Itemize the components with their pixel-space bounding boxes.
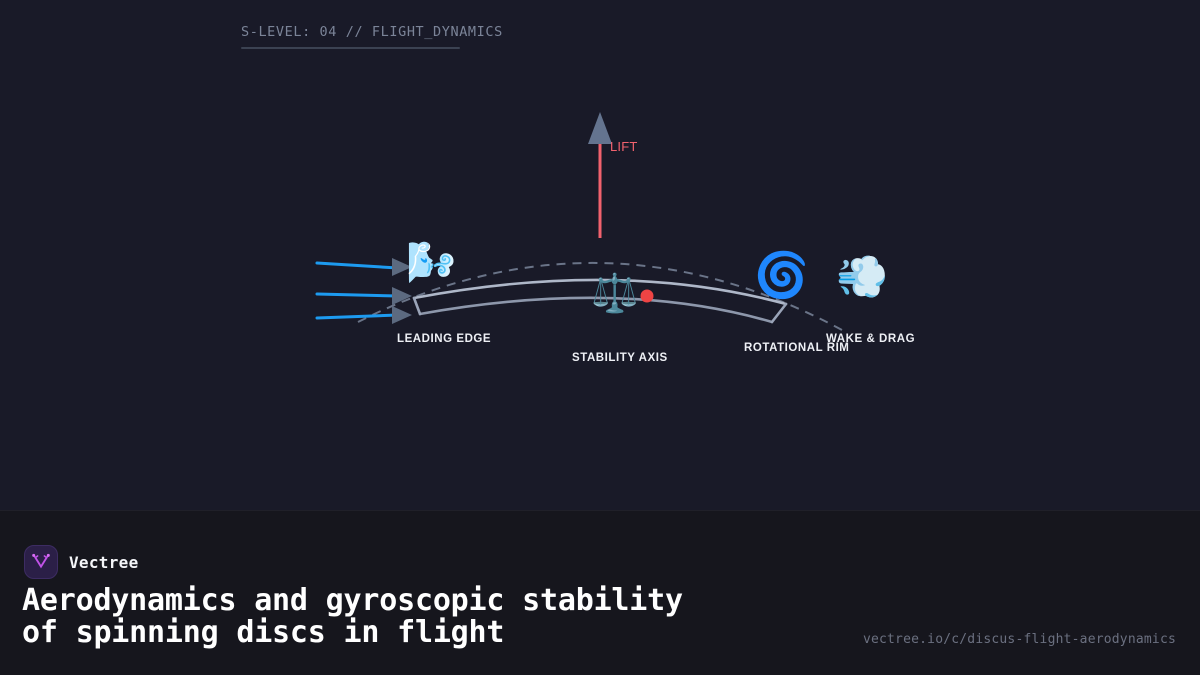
discus-right-tip bbox=[772, 304, 786, 322]
header-eyebrow: S-LEVEL: 04 // FLIGHT_DYNAMICS bbox=[241, 24, 461, 49]
center-of-mass-dot bbox=[641, 290, 654, 303]
section-level-text: S-LEVEL: 04 // FLIGHT_DYNAMICS bbox=[241, 24, 461, 40]
airflow-lines-group bbox=[317, 263, 398, 318]
source-url: vectree.io/c/discus-flight-aerodynamics bbox=[863, 632, 1176, 647]
brand-row: Vectree bbox=[24, 545, 139, 579]
balance-scale-icon: ⚖️ bbox=[591, 275, 639, 313]
airflow-line-1 bbox=[317, 263, 398, 268]
header-divider bbox=[241, 47, 460, 49]
cyclone-icon: 🌀 bbox=[754, 254, 802, 298]
airflow-line-3 bbox=[317, 315, 398, 318]
footer-bar: Vectree Aerodynamics and gyroscopic stab… bbox=[0, 510, 1200, 675]
brand-logo bbox=[24, 545, 58, 579]
brand-name: Vectree bbox=[69, 553, 139, 572]
dashing-away-icon: 💨 bbox=[836, 256, 884, 298]
node-label-leading-edge: LEADING EDGE bbox=[397, 333, 491, 345]
flight-dynamics-diagram: 🌬️ ⚖️ 🌀 💨 LEADING EDGE STABILITY AXIS RO… bbox=[0, 60, 1200, 510]
airflow-line-2 bbox=[317, 294, 398, 296]
headline-line-1: Aerodynamics and gyroscopic stability bbox=[22, 583, 683, 618]
airflow-arrowhead-3 bbox=[392, 306, 412, 324]
wind-face-icon: 🌬️ bbox=[406, 243, 454, 283]
lift-vector-arrowhead bbox=[588, 112, 612, 144]
discus-left-tip bbox=[414, 298, 420, 314]
vectree-mark-icon bbox=[31, 552, 51, 572]
lift-vector-group bbox=[588, 112, 612, 238]
node-label-wake-drag: WAKE & DRAG bbox=[826, 333, 915, 345]
headline-line-2: of spinning discs in flight bbox=[22, 615, 504, 650]
page-title: Aerodynamics and gyroscopic stability of… bbox=[22, 585, 683, 650]
node-label-stability-axis: STABILITY AXIS bbox=[572, 352, 668, 364]
lift-label: LIFT bbox=[610, 139, 638, 154]
